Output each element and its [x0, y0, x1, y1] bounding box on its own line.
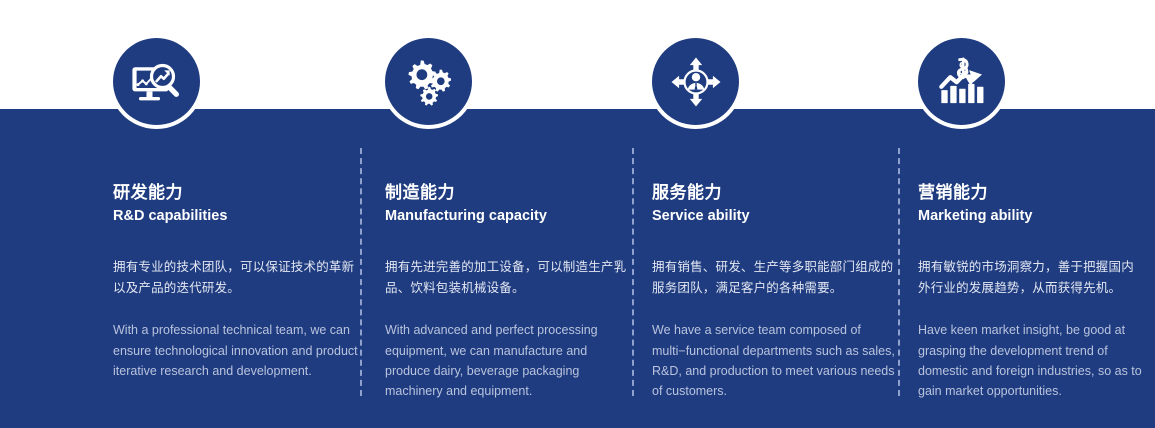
text-block-marketing: 营销能力 Marketing ability 拥有敏锐的市场洞察力，善于把握国内… — [918, 182, 1155, 401]
capability-column-manufacturing: 制造能力 Manufacturing capacity 拥有先进完善的加工设备，… — [385, 0, 651, 428]
text-block-manufacturing: 制造能力 Manufacturing capacity 拥有先进完善的加工设备，… — [385, 182, 630, 401]
column-title-cn: 服务能力 — [652, 182, 897, 205]
column-body-en: With a professional technical team, we c… — [113, 320, 358, 381]
text-block-service: 服务能力 Service ability 拥有销售、研发、生产等多职能部门组成的… — [652, 182, 897, 401]
capability-column-rd: 研发能力 R&D capabilities 拥有专业的技术团队，可以保证技术的革… — [113, 0, 379, 428]
column-body-cn: 拥有销售、研发、生产等多职能部门组成的服务团队，满足客户的各种需要。 — [652, 257, 897, 301]
icon-badge-manufacturing — [385, 38, 472, 125]
column-title-en: Service ability — [652, 207, 897, 227]
icon-badge-rd — [113, 38, 200, 125]
monitor-chart-magnifier-icon — [131, 56, 183, 108]
column-body-en: We have a service team composed of multi… — [652, 320, 897, 401]
text-block-rd: 研发能力 R&D capabilities 拥有专业的技术团队，可以保证技术的革… — [113, 182, 358, 381]
column-title-en: R&D capabilities — [113, 207, 358, 227]
column-body-cn: 拥有先进完善的加工设备，可以制造生产乳品、饮料包装机械设备。 — [385, 257, 630, 301]
icon-badge-service — [652, 38, 739, 125]
column-title-cn: 营销能力 — [918, 182, 1155, 205]
column-body-cn: 拥有敏锐的市场洞察力，善于把握国内外行业的发展趋势，从而获得先机。 — [918, 257, 1144, 301]
column-body-en: With advanced and perfect processing equ… — [385, 320, 630, 401]
column-title-en: Manufacturing capacity — [385, 207, 630, 227]
growth-chart-dollar-icon: $ — [937, 57, 987, 107]
capability-column-service: 服务能力 Service ability 拥有销售、研发、生产等多职能部门组成的… — [652, 0, 918, 428]
person-four-arrows-icon — [670, 56, 722, 108]
column-body-en: Have keen market insight, be good at gra… — [918, 320, 1144, 401]
column-title-en: Marketing ability — [918, 207, 1155, 227]
column-body-cn: 拥有专业的技术团队，可以保证技术的革新以及产品的迭代研发。 — [113, 257, 358, 301]
capabilities-infographic: 研发能力 R&D capabilities 拥有专业的技术团队，可以保证技术的革… — [0, 0, 1155, 428]
gears-icon — [404, 57, 454, 107]
column-title-cn: 研发能力 — [113, 182, 358, 205]
icon-badge-marketing: $ — [918, 38, 1005, 125]
column-title-cn: 制造能力 — [385, 182, 630, 205]
capability-column-marketing: $ 营销能力 Marketing ability 拥有敏锐的市场洞察力，善于把握… — [918, 0, 1155, 428]
